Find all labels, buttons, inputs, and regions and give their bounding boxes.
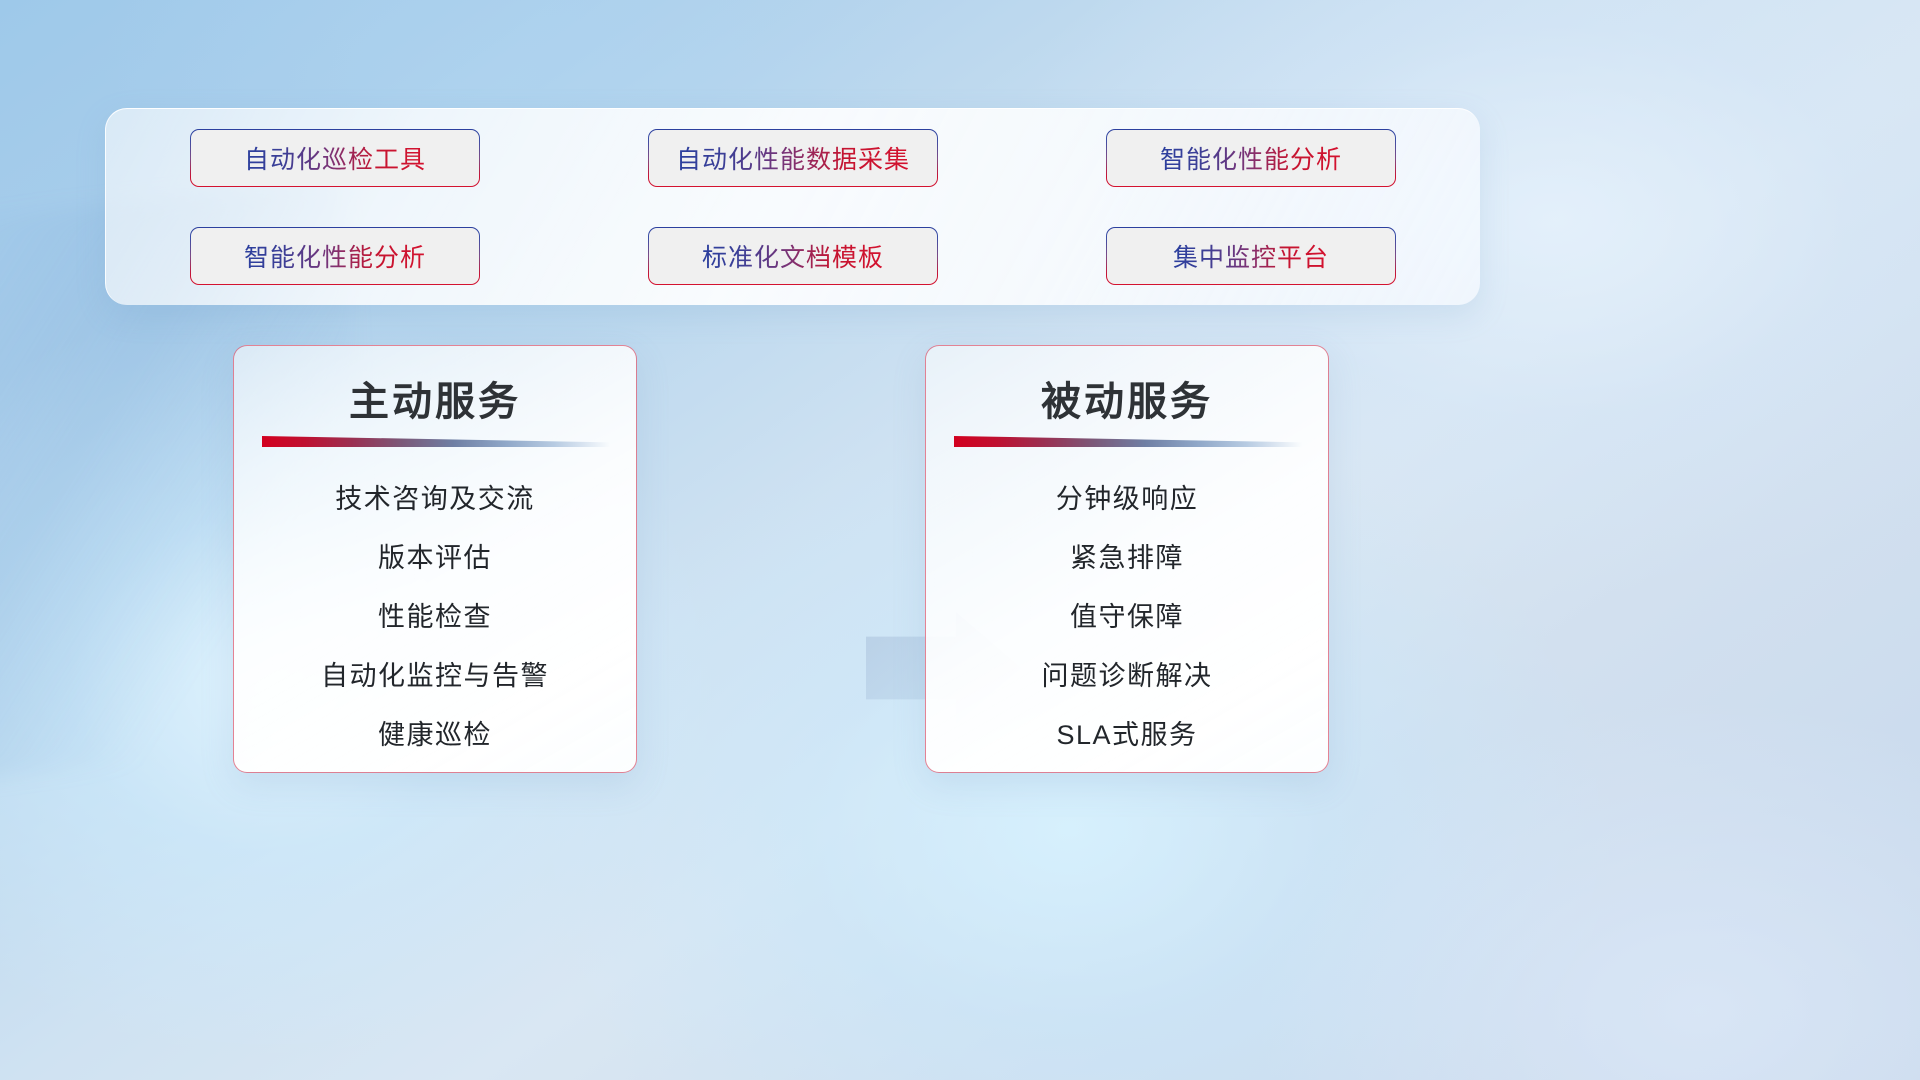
list-item: 性能检查 (378, 588, 492, 647)
card-divider (262, 436, 610, 447)
service-card-proactive: 主动服务 技术咨询及交流 版本评估 性能检查 自动化监控与告警 健康巡检 (233, 345, 637, 773)
background-glow-bottom-right (1250, 700, 1920, 1080)
list-item: 版本评估 (378, 529, 492, 588)
service-card-reactive: 被动服务 分钟级响应 紧急排障 值守保障 问题诊断解决 SLA式服务 (925, 345, 1329, 773)
list-item: 分钟级响应 (1056, 470, 1199, 529)
list-item: 问题诊断解决 (1042, 647, 1213, 706)
capability-pill-2[interactable]: 自动化性能数据采集 (648, 129, 938, 187)
slide-canvas: 自动化巡检工具 自动化性能数据采集 智能化性能分析 智能化性能分析 标准化文档模… (0, 0, 1920, 1080)
capability-panel: 自动化巡检工具 自动化性能数据采集 智能化性能分析 智能化性能分析 标准化文档模… (105, 108, 1480, 305)
capability-pill-1[interactable]: 自动化巡检工具 (190, 129, 480, 187)
card-title: 被动服务 (926, 369, 1328, 427)
card-item-list: 技术咨询及交流 版本评估 性能检查 自动化监控与告警 健康巡检 (234, 470, 636, 765)
list-item: 技术咨询及交流 (335, 470, 535, 529)
card-title: 主动服务 (234, 369, 636, 427)
list-item: 健康巡检 (378, 706, 492, 765)
card-item-list: 分钟级响应 紧急排障 值守保障 问题诊断解决 SLA式服务 (926, 470, 1328, 765)
list-item: 紧急排障 (1070, 529, 1184, 588)
capability-pill-label: 智能化性能分析 (1160, 140, 1342, 176)
capability-pill-6[interactable]: 集中监控平台 (1106, 227, 1396, 285)
capability-pill-label: 自动化巡检工具 (244, 140, 426, 176)
capability-pill-3[interactable]: 智能化性能分析 (1106, 129, 1396, 187)
capability-pill-grid: 自动化巡检工具 自动化性能数据采集 智能化性能分析 智能化性能分析 标准化文档模… (106, 109, 1480, 305)
capability-pill-5[interactable]: 标准化文档模板 (648, 227, 938, 285)
list-item: SLA式服务 (1056, 706, 1197, 765)
capability-pill-4[interactable]: 智能化性能分析 (190, 227, 480, 285)
capability-pill-label: 自动化性能数据采集 (676, 140, 910, 176)
list-item: 值守保障 (1070, 588, 1184, 647)
list-item: 自动化监控与告警 (321, 647, 549, 706)
capability-pill-label: 标准化文档模板 (702, 238, 884, 274)
capability-pill-label: 集中监控平台 (1173, 238, 1329, 274)
capability-pill-label: 智能化性能分析 (244, 238, 426, 274)
card-divider (954, 436, 1302, 447)
